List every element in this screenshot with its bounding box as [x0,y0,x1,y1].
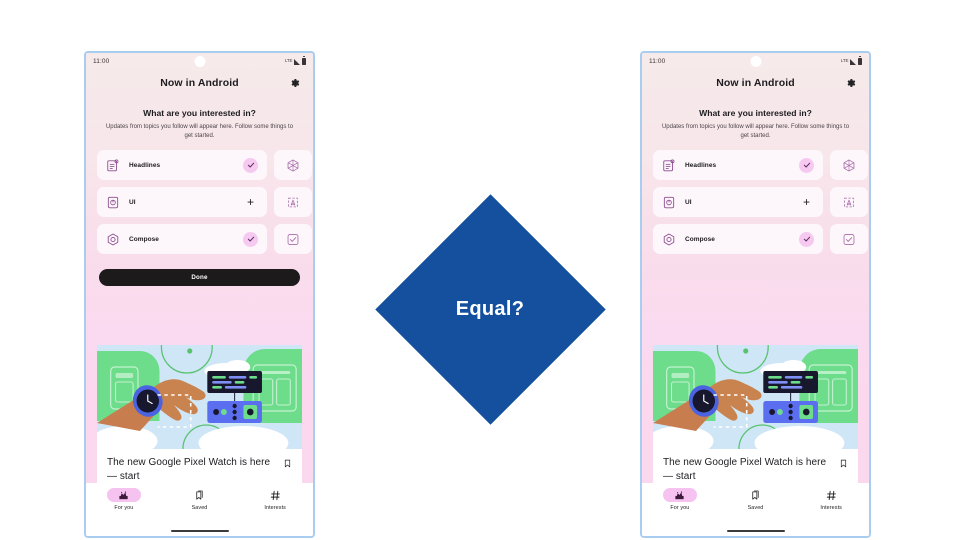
topic-grid: Headlines [642,150,869,254]
topic-card-headlines[interactable]: Headlines [97,150,267,180]
nav-pill [183,488,217,502]
done-button[interactable]: Done [99,269,300,286]
testing-icon [842,195,856,210]
topic-row: UI + [653,187,869,217]
topic-label: UI [129,199,243,206]
flex-spacer [86,286,313,345]
pixel-watch-illustration [97,345,302,449]
battery-icon [302,58,306,65]
done-button-container: Done [86,254,313,286]
topic-card-ui[interactable]: UI + [653,187,823,217]
nav-label: For you [114,505,133,511]
equal-comparison-marker: Equal? [375,194,605,424]
bookmark-icon[interactable] [839,458,848,469]
nav-item-interests[interactable]: Interests [237,488,313,511]
network-label: LTE [285,59,292,64]
page-title: Now in Android [716,77,795,89]
gear-icon[interactable] [845,78,856,89]
status-clock: 11:00 [93,58,109,65]
interests-subtitle: Updates from topics you follow will appe… [99,123,300,140]
check-icon [803,161,811,169]
nav-item-saved[interactable]: Saved [718,488,794,511]
interests-icon [270,490,281,501]
topic-card-ui[interactable]: UI + [97,187,267,217]
topic-follow-toggle[interactable] [243,158,258,173]
article-card[interactable]: The new Google Pixel Watch is here — sta… [97,449,302,483]
headlines-icon [662,158,676,173]
nav-pill-active [663,488,697,502]
check-icon [803,235,811,243]
topic-follow-toggle[interactable] [799,158,814,173]
article-title: The new Google Pixel Watch is here — sta… [663,456,833,483]
camera-punch-hole [194,56,205,67]
compose-icon [106,232,120,247]
topic-label: Headlines [685,162,799,169]
interests-header: What are you interested in? Updates from… [86,97,313,140]
feed-card[interactable]: The new Google Pixel Watch is here — sta… [642,345,869,483]
camera-punch-hole [750,56,761,67]
signal-icon [850,59,856,65]
interests-header: What are you interested in? Updates from… [642,97,869,140]
hero-illustration [653,345,858,449]
gesture-bar[interactable] [727,530,785,532]
signal-icon [294,59,300,65]
comparison-stage: 11:00 LTE Now in Android What are you in… [0,0,960,540]
topic-grid: Headlines [86,150,313,254]
nav-pill-active [107,488,141,502]
topic-label: Compose [685,236,799,243]
phone-mockup-right: 11:00 LTE Now in Android What are you in… [640,51,871,538]
nav-item-for-you[interactable]: For you [86,488,162,511]
for-you-icon [118,490,129,501]
feed-card[interactable]: The new Google Pixel Watch is here — sta… [86,345,313,483]
hero-illustration [97,345,302,449]
checkbox-icon [286,232,300,247]
battery-icon [858,58,862,65]
nav-pill [814,488,848,502]
checkbox-icon [842,232,856,247]
topic-label: Headlines [129,162,243,169]
done-button-label: Done [191,274,207,281]
headlines-icon [106,158,120,173]
interests-icon [826,490,837,501]
check-icon [247,235,255,243]
topic-row: Compose [97,224,313,254]
bottom-navigation: For you Saved [86,483,313,536]
topic-follow-toggle[interactable]: + [799,196,814,208]
topic-follow-toggle[interactable]: + [243,196,258,208]
nav-label: Interests [264,505,286,511]
for-you-icon [674,490,685,501]
status-clock: 11:00 [649,58,665,65]
check-icon [247,161,255,169]
nav-label: Interests [820,505,842,511]
status-bar: 11:00 LTE [86,53,313,69]
gear-icon[interactable] [289,78,300,89]
app-bar: Now in Android [86,69,313,97]
cube-icon [842,158,856,173]
bottom-navigation: For you Saved [642,483,869,536]
status-bar: 11:00 LTE [642,53,869,69]
flex-spacer [642,254,869,345]
interests-subtitle: Updates from topics you follow will appe… [655,123,856,140]
nav-label: For you [670,505,689,511]
topic-label: UI [685,199,799,206]
interests-title: What are you interested in? [655,108,856,118]
saved-icon [194,490,205,501]
nav-item-interests[interactable]: Interests [793,488,869,511]
pixel-watch-illustration [653,345,858,449]
topic-card-compose[interactable]: Compose [653,224,823,254]
compose-icon [662,232,676,247]
topic-card-partial-1[interactable] [830,150,868,180]
equal-label: Equal? [456,298,524,321]
status-icons: LTE [841,58,862,65]
topic-card-compose[interactable]: Compose [97,224,267,254]
ui-icon [662,195,676,210]
gesture-bar[interactable] [171,530,229,532]
nav-pill [739,488,773,502]
nav-label: Saved [192,505,208,511]
topic-card-partial-3[interactable] [274,224,312,254]
topic-card-headlines[interactable]: Headlines [653,150,823,180]
topic-row: Headlines [97,150,313,180]
network-label: LTE [841,59,848,64]
topic-card-partial-2[interactable] [830,187,868,217]
article-title: The new Google Pixel Watch is here — sta… [107,456,277,483]
article-card[interactable]: The new Google Pixel Watch is here — sta… [653,449,858,483]
phone-screen-right: 11:00 LTE Now in Android What are you in… [642,53,869,536]
topic-label: Compose [129,236,243,243]
ui-icon [106,195,120,210]
phone-mockup-left: 11:00 LTE Now in Android What are you in… [84,51,315,538]
topic-follow-toggle[interactable] [799,232,814,247]
status-icons: LTE [285,58,306,65]
topic-row: Headlines [653,150,869,180]
bookmark-icon[interactable] [283,458,292,469]
topic-follow-toggle[interactable] [243,232,258,247]
nav-label: Saved [748,505,764,511]
testing-icon [286,195,300,210]
saved-icon [750,490,761,501]
interests-title: What are you interested in? [99,108,300,118]
topic-row: Compose [653,224,869,254]
app-bar: Now in Android [642,69,869,97]
topic-card-partial-3[interactable] [830,224,868,254]
topic-card-partial-2[interactable] [274,187,312,217]
topic-row: UI + [97,187,313,217]
cube-icon [286,158,300,173]
topic-card-partial-1[interactable] [274,150,312,180]
phone-screen-left: 11:00 LTE Now in Android What are you in… [86,53,313,536]
nav-item-for-you[interactable]: For you [642,488,718,511]
nav-pill [258,488,292,502]
page-title: Now in Android [160,77,239,89]
nav-item-saved[interactable]: Saved [162,488,238,511]
